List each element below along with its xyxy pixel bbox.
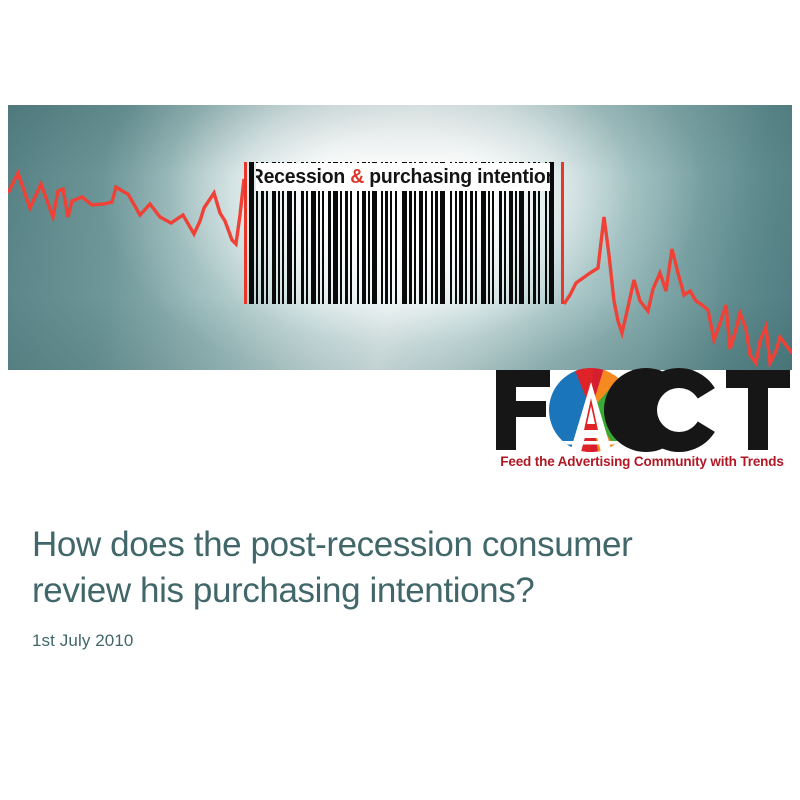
- fact-wordmark-icon: [492, 368, 792, 452]
- barcode-label-ampersand: &: [350, 166, 364, 188]
- barcode-graphic: Recession & purchasing intention: [244, 162, 564, 304]
- fact-logo: Feed the Advertising Community with Tren…: [492, 368, 792, 480]
- barcode-label-suffix: purchasing intention: [364, 166, 550, 188]
- barcode-label-text: Recession & purchasing intention: [256, 166, 550, 189]
- trendline-left: [8, 173, 244, 244]
- page-title: How does the post-recession consumer rev…: [32, 522, 762, 613]
- fact-tagline: Feed the Advertising Community with Tren…: [492, 454, 792, 469]
- barcode-guard-right-icon: [561, 162, 564, 304]
- barcode-label-prefix: Recession: [256, 166, 350, 188]
- barcode-bar: [249, 162, 254, 304]
- page-date: 1st July 2010: [32, 631, 762, 651]
- barcode-label-strip: Recession & purchasing intention: [256, 163, 550, 191]
- trendline-right: [564, 217, 792, 363]
- hero-banner-image: Recession & purchasing intention: [8, 105, 792, 370]
- title-block: How does the post-recession consumer rev…: [32, 522, 762, 651]
- logo-letter-f: [496, 370, 550, 450]
- barcode-guard-left-icon: [244, 162, 247, 304]
- slide-page: { "slide": { "title_line_1": "How does t…: [0, 0, 800, 800]
